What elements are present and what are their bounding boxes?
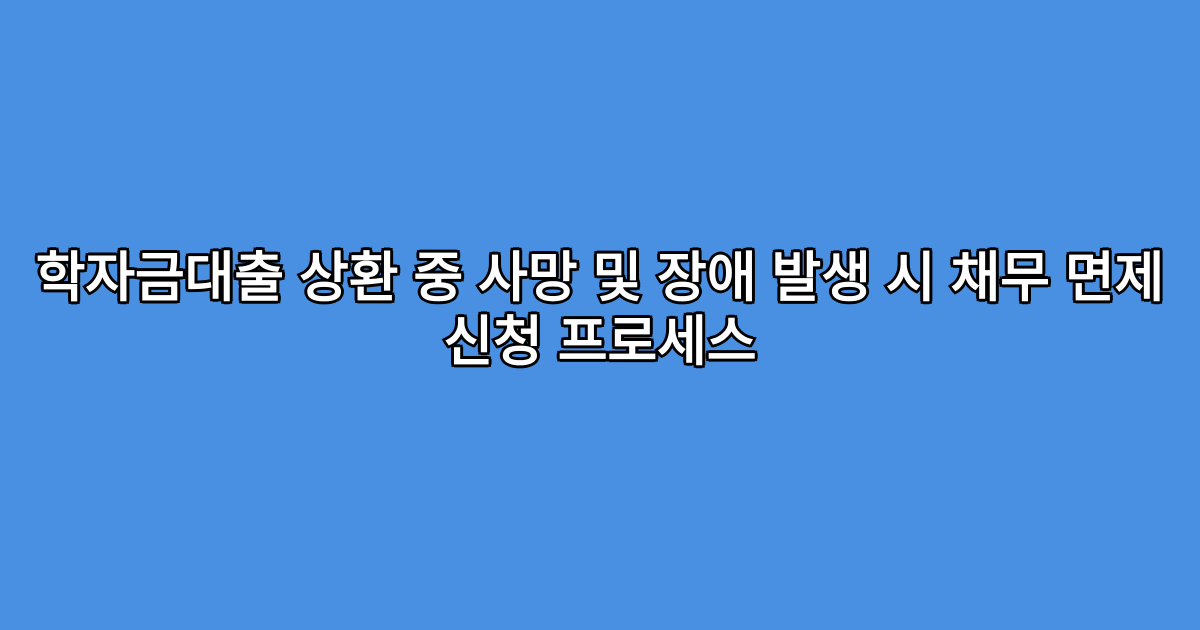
thumbnail-canvas: 학자금대출 상환 중 사망 및 장애 발생 시 채무 면제 신청 프로세스 bbox=[0, 0, 1200, 630]
title-block: 학자금대출 상환 중 사망 및 장애 발생 시 채무 면제 신청 프로세스 bbox=[0, 246, 1200, 374]
page-title: 학자금대출 상환 중 사망 및 장애 발생 시 채무 면제 신청 프로세스 bbox=[28, 246, 1172, 374]
